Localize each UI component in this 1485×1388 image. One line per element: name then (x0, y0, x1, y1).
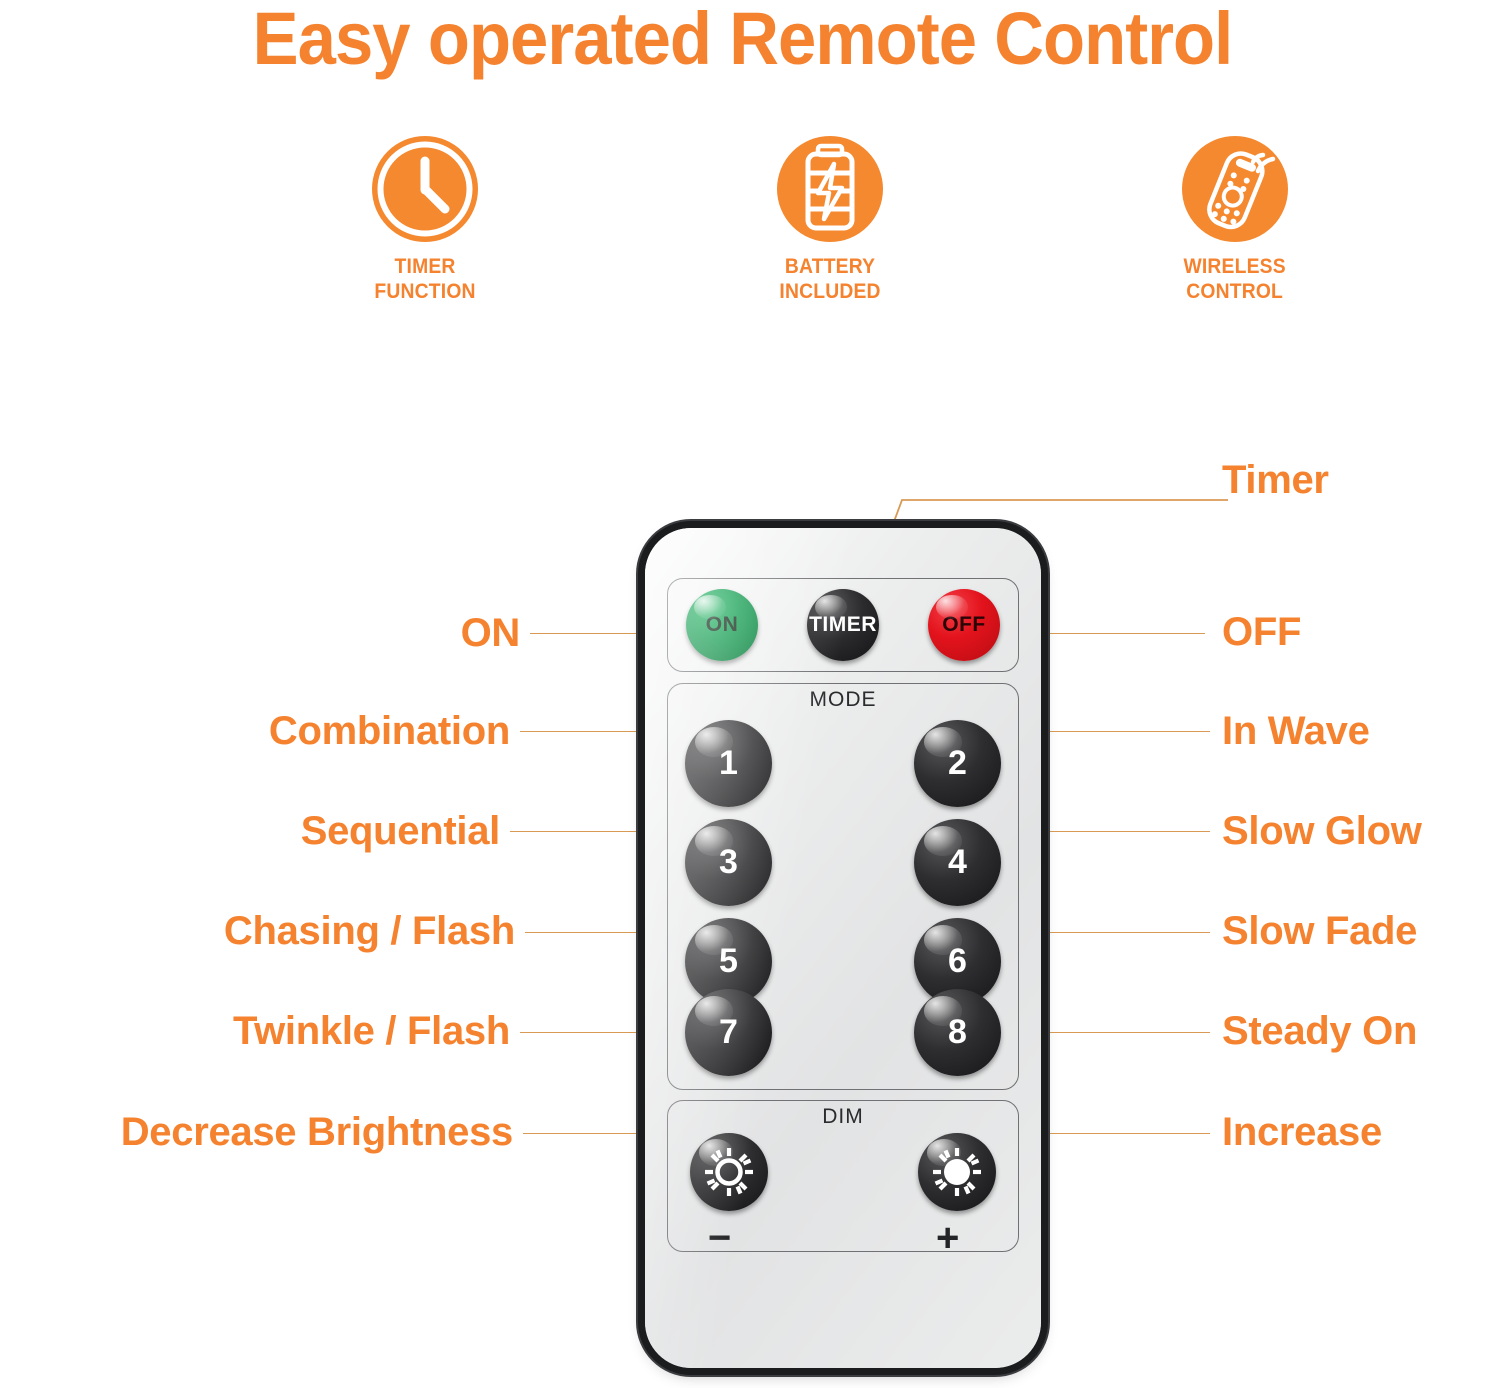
feature-battery-included: BATTERY INCLUDED (705, 133, 955, 305)
callout-mode2: In Wave (1222, 711, 1370, 751)
feature-battery-label: BATTERY INCLUDED (779, 255, 880, 305)
callout-timer: Timer (1222, 460, 1329, 500)
mode-button-2[interactable]: 2 (914, 720, 1001, 807)
dim-decrease-button[interactable] (690, 1133, 768, 1211)
dim-increase-button[interactable] (918, 1133, 996, 1211)
on-button[interactable]: ON (686, 589, 758, 661)
callout-dim-up: Increase (1222, 1112, 1382, 1152)
callout-mode4: Slow Glow (1222, 811, 1422, 851)
mode-button-1[interactable]: 1 (685, 720, 772, 807)
callout-on: ON (461, 613, 520, 653)
mode-button-7[interactable]: 7 (685, 989, 772, 1076)
callout-mode1: Combination (269, 711, 510, 751)
clock-icon (369, 133, 481, 245)
dim-panel: DIM (667, 1100, 1019, 1252)
dim-plus-symbol: + (936, 1218, 959, 1258)
callout-mode5: Chasing / Flash (224, 911, 515, 951)
battery-icon (774, 133, 886, 245)
callout-dim-down: Decrease Brightness (121, 1112, 513, 1152)
mode-caption: MODE (668, 688, 1018, 712)
feature-timer-function: TIMER FUNCTION (300, 133, 550, 305)
timer-button[interactable]: TIMER (807, 589, 879, 661)
dim-caption: DIM (668, 1105, 1018, 1129)
remote-control-body: ON TIMER OFF MODE 1 2 3 4 5 6 7 8 DIM (645, 528, 1041, 1368)
mode-button-3[interactable]: 3 (685, 819, 772, 906)
feature-wireless-control: WIRELESS CONTROL (1110, 133, 1360, 305)
page-title: Easy operated Remote Control (52, 0, 1433, 81)
sun-dim-icon (702, 1145, 756, 1199)
sun-bright-icon (930, 1145, 984, 1199)
callout-mode8: Steady On (1222, 1011, 1417, 1051)
off-button[interactable]: OFF (928, 589, 1000, 661)
power-panel: ON TIMER OFF (667, 578, 1019, 672)
callout-off: OFF (1222, 612, 1301, 652)
mode-panel: MODE 1 2 3 4 5 6 7 8 (667, 683, 1019, 1090)
remote-signal-icon (1179, 133, 1291, 245)
feature-wireless-label: WIRELESS CONTROL (1184, 255, 1286, 305)
mode-button-8[interactable]: 8 (914, 989, 1001, 1076)
dim-minus-symbol: − (708, 1218, 731, 1258)
feature-badges: TIMER FUNCTION BATTERY INCLUDED (300, 133, 1360, 305)
mode-button-4[interactable]: 4 (914, 819, 1001, 906)
callout-mode7: Twinkle / Flash (233, 1011, 510, 1051)
callout-mode6: Slow Fade (1222, 911, 1417, 951)
feature-timer-label: TIMER FUNCTION (374, 255, 475, 305)
callout-mode3: Sequential (301, 811, 500, 851)
